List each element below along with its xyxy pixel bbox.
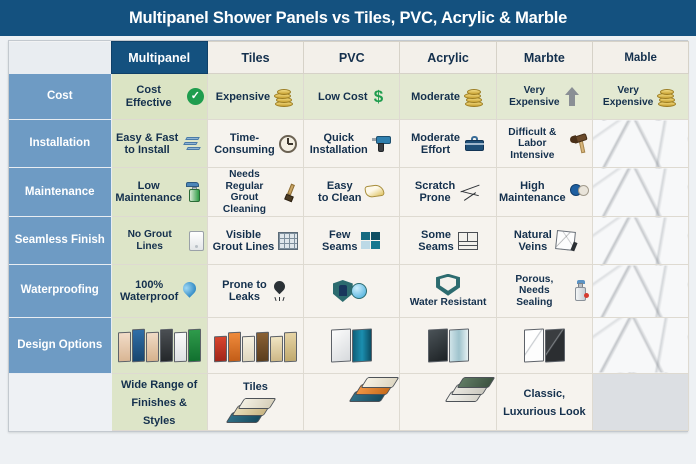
cell-text: Water Resistant xyxy=(410,297,487,308)
cell-text: Classic, Luxurious Look xyxy=(503,388,586,418)
cell-seamless-pvc[interactable]: Few Seams xyxy=(304,217,400,265)
cell-maintenance-acrylic[interactable]: Scratch Prone xyxy=(400,168,496,217)
row-label-summary-blank xyxy=(9,373,111,430)
clock-icon xyxy=(279,135,297,153)
cell-installation-mable[interactable] xyxy=(592,120,688,168)
cell-text: Easy to Clean xyxy=(318,180,361,205)
cell-text: Porous, Needs Sealing xyxy=(500,274,569,308)
cell-summary-pvc[interactable] xyxy=(304,373,400,430)
cell-summary-tiles[interactable]: Tiles xyxy=(207,373,303,430)
table-row-waterproofing: Waterproofing 100% Waterproof Prone to L… xyxy=(9,265,689,317)
dollar-sign-icon: $ xyxy=(371,87,385,107)
table-corner-cell xyxy=(9,42,111,74)
table-row-design-options: Design Options xyxy=(9,317,689,373)
table-row-cost: Cost Cost Effective ✓ Expensive Low xyxy=(9,74,689,120)
coin-stack-icon xyxy=(274,87,295,107)
column-header-acrylic[interactable]: Acrylic xyxy=(400,42,496,74)
infographic-poster: Multipanel Shower Panels vs Tiles, PVC, … xyxy=(0,0,696,464)
cell-summary-mable[interactable] xyxy=(592,373,688,430)
comparison-table: Multipanel Tiles PVC Acrylic Marbte Mabl… xyxy=(9,41,689,431)
cell-waterproofing-multipanel[interactable]: 100% Waterproof xyxy=(111,265,207,317)
table-row-seamless-finish: Seamless Finish No Grout Lines Visible G… xyxy=(9,217,689,265)
waterproof-shield-icon xyxy=(333,280,367,302)
cell-waterproofing-mable[interactable] xyxy=(592,265,688,317)
column-header-mable[interactable]: Mable xyxy=(592,42,688,74)
water-drop-icon xyxy=(182,281,198,301)
power-drill-icon xyxy=(372,136,394,152)
check-circle-icon: ✓ xyxy=(187,88,204,105)
cell-design-multipanel[interactable] xyxy=(111,317,207,373)
column-header-marble[interactable]: Marbte xyxy=(496,42,592,74)
cell-text: Difficult & Labor Intensive xyxy=(500,127,565,161)
cell-seamless-mable[interactable] xyxy=(592,217,688,265)
cell-waterproofing-marble[interactable]: Porous, Needs Sealing xyxy=(496,265,592,317)
cell-text: Expensive xyxy=(216,91,270,103)
cell-cost-pvc[interactable]: Low Cost $ xyxy=(304,74,400,120)
cell-text: Prone to Leaks xyxy=(222,279,267,304)
cell-text: Few Seams xyxy=(322,229,357,254)
cell-waterproofing-pvc[interactable] xyxy=(304,265,400,317)
row-label-installation: Installation xyxy=(9,120,111,168)
cell-cost-multipanel[interactable]: Cost Effective ✓ xyxy=(111,74,207,120)
cell-installation-pvc[interactable]: Quick Installation xyxy=(304,120,400,168)
cell-text: Easy & Fast to Install xyxy=(116,132,178,157)
panel-swatches-icon xyxy=(115,328,204,362)
marble-sheet-icon xyxy=(556,231,575,250)
tile-samples-icon xyxy=(211,328,300,362)
cell-maintenance-multipanel[interactable]: Low Maintenance xyxy=(111,168,207,217)
cell-installation-acrylic[interactable]: Moderate Effort xyxy=(400,120,496,168)
cell-seamless-tiles[interactable]: Visible Grout Lines xyxy=(207,217,303,265)
blank-panel-icon xyxy=(189,231,204,251)
table-row-maintenance: Maintenance Low Maintenance Needs Regula… xyxy=(9,168,689,217)
row-label-design-options: Design Options xyxy=(9,317,111,373)
cell-summary-multipanel[interactable]: Wide Range of Finishes & Styles xyxy=(111,373,207,430)
cell-text: Needs Regular Grout Cleaning xyxy=(211,169,278,215)
cell-seamless-acrylic[interactable]: Some Seams xyxy=(400,217,496,265)
toolbox-icon xyxy=(464,136,485,152)
acrylic-panel-samples-icon xyxy=(403,328,492,362)
speed-lines-icon xyxy=(182,135,202,153)
cell-maintenance-pvc[interactable]: Easy to Clean xyxy=(304,168,400,217)
cell-text: Visible Grout Lines xyxy=(213,229,275,254)
cell-text: Wide Range of Finishes & Styles xyxy=(121,379,197,427)
cell-text: Low Maintenance xyxy=(115,180,182,205)
four-pane-icon xyxy=(361,232,381,250)
row-label-seamless-finish: Seamless Finish xyxy=(9,217,111,265)
cell-text: Low Cost xyxy=(318,91,368,103)
cell-summary-acrylic[interactable] xyxy=(400,373,496,430)
table-row-installation: Installation Easy & Fast to Install Time… xyxy=(9,120,689,168)
page-title: Multipanel Shower Panels vs Tiles, PVC, … xyxy=(129,9,567,28)
cell-maintenance-mable[interactable] xyxy=(592,168,688,217)
cell-design-mable[interactable] xyxy=(592,317,688,373)
title-bar: Multipanel Shower Panels vs Tiles, PVC, … xyxy=(0,0,696,36)
sponge-icon xyxy=(365,184,385,200)
column-header-multipanel[interactable]: Multipanel xyxy=(111,42,207,74)
cell-text: Time- Consuming xyxy=(214,132,275,157)
cell-text: Some Seams xyxy=(418,229,453,254)
coin-stack-icon xyxy=(464,87,485,107)
coin-stack-icon xyxy=(657,87,678,107)
cell-waterproofing-acrylic[interactable]: Water Resistant xyxy=(400,265,496,317)
row-label-waterproofing: Waterproofing xyxy=(9,265,111,317)
cell-cost-tiles[interactable]: Expensive xyxy=(207,74,303,120)
cell-text: Very Expensive xyxy=(509,85,559,108)
table-header-row: Multipanel Tiles PVC Acrylic Marbte Mabl… xyxy=(9,42,689,74)
column-header-tiles[interactable]: Tiles xyxy=(207,42,303,74)
cell-cost-marble[interactable]: Very Expensive xyxy=(496,74,592,120)
cell-text: High Maintenance xyxy=(499,180,566,205)
spray-bottle-icon xyxy=(186,182,203,202)
cell-text: Scratch Prone xyxy=(415,180,455,205)
comparison-table-frame: Multipanel Tiles PVC Acrylic Marbte Mabl… xyxy=(8,40,688,432)
hammer-icon xyxy=(569,135,589,153)
column-header-pvc[interactable]: PVC xyxy=(304,42,400,74)
cell-cost-mable[interactable]: Very Expensive xyxy=(592,74,688,120)
up-arrow-icon xyxy=(564,87,580,107)
cell-design-pvc[interactable] xyxy=(304,317,400,373)
cell-installation-tiles[interactable]: Time- Consuming xyxy=(207,120,303,168)
paint-roller-icon xyxy=(570,184,590,201)
cell-seamless-marble[interactable]: Natural Veins xyxy=(496,217,592,265)
cell-waterproofing-tiles[interactable]: Prone to Leaks xyxy=(207,265,303,317)
cell-maintenance-tiles[interactable]: Needs Regular Grout Cleaning xyxy=(207,168,303,217)
tile-pile-icon xyxy=(229,393,281,423)
cell-text: 100% Waterproof xyxy=(120,279,178,304)
cell-design-marble[interactable] xyxy=(496,317,592,373)
cell-cost-acrylic[interactable]: Moderate xyxy=(400,74,496,120)
cell-seamless-multipanel[interactable]: No Grout Lines xyxy=(111,217,207,265)
scratch-lines-icon xyxy=(459,184,481,200)
cell-installation-multipanel[interactable]: Easy & Fast to Install xyxy=(111,120,207,168)
cell-text: Moderate Effort xyxy=(411,132,460,157)
cell-text: Moderate xyxy=(411,91,460,103)
seamed-panel-icon xyxy=(458,232,478,250)
pvc-panel-samples-icon xyxy=(307,328,396,362)
cell-text: Cost Effective xyxy=(115,84,183,109)
table-row-summary: Wide Range of Finishes & Styles Tiles xyxy=(9,373,689,430)
row-label-maintenance: Maintenance xyxy=(9,168,111,217)
cell-design-tiles[interactable] xyxy=(207,317,303,373)
sealant-bottle-icon xyxy=(573,280,589,301)
marble-slab-samples-icon xyxy=(500,328,589,362)
leaking-drop-icon xyxy=(271,281,289,301)
cell-text: Very Expensive xyxy=(603,85,653,108)
cell-text: Quick Installation xyxy=(310,132,368,157)
shield-icon xyxy=(436,274,460,296)
grout-brush-icon xyxy=(282,183,300,201)
cell-text: Tiles xyxy=(243,381,268,393)
cell-design-acrylic[interactable] xyxy=(400,317,496,373)
cell-text: Natural Veins xyxy=(514,229,552,254)
cell-maintenance-marble[interactable]: High Maintenance xyxy=(496,168,592,217)
tile-grid-icon xyxy=(278,232,298,250)
cell-installation-marble[interactable]: Difficult & Labor Intensive xyxy=(496,120,592,168)
row-label-cost: Cost xyxy=(9,74,111,120)
cell-text: No Grout Lines xyxy=(115,229,185,252)
cell-summary-marble[interactable]: Classic, Luxurious Look xyxy=(496,373,592,430)
